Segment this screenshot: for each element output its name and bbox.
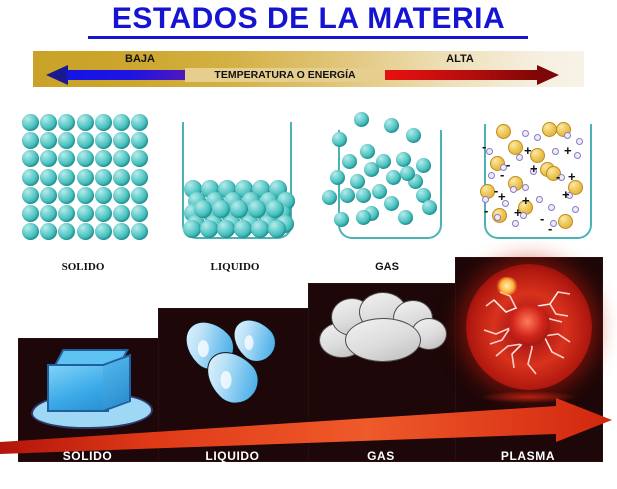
particle: [200, 220, 218, 238]
particle: [354, 112, 369, 127]
particle: [95, 114, 112, 131]
plasma-electron: [512, 220, 519, 227]
plasma-electron: [522, 184, 529, 191]
example-label-liquido: LIQUIDO: [158, 449, 307, 463]
particle: [322, 190, 337, 205]
temperature-axis-label: TEMPERATURA O ENERGÍA: [185, 68, 385, 82]
particle: [330, 170, 345, 185]
particle: [332, 132, 347, 147]
particle: [58, 187, 75, 204]
particle: [113, 150, 130, 167]
example-panel-solido: [18, 338, 159, 462]
particle: [131, 132, 148, 149]
particle: [77, 223, 94, 240]
particle: [266, 200, 284, 218]
charge-sign: -: [556, 170, 560, 183]
charge-sign: +: [522, 194, 530, 207]
particle: [113, 132, 130, 149]
low-temperature-label: BAJA: [80, 53, 200, 65]
charge-sign: +: [564, 144, 572, 157]
particle: [77, 132, 94, 149]
particle: [77, 169, 94, 186]
example-panel-gas: [308, 283, 456, 462]
particle-diagram-liquido: LIQUIDO: [160, 108, 310, 273]
particle: [131, 187, 148, 204]
particle: [95, 132, 112, 149]
particle: [58, 169, 75, 186]
particle: [131, 169, 148, 186]
particle: [396, 152, 411, 167]
particle-diagram-solido: SOLIDO: [8, 108, 158, 273]
charge-sign: +: [530, 162, 538, 175]
particle: [77, 187, 94, 204]
particle-diagram-gas: GAS: [312, 108, 462, 273]
particle: [113, 205, 130, 222]
particle: [340, 188, 355, 203]
particle: [22, 114, 39, 131]
particle: [40, 132, 57, 149]
plasma-ion: [496, 124, 511, 139]
particle: [131, 205, 148, 222]
particle: [40, 169, 57, 186]
particle: [77, 150, 94, 167]
particle: [194, 200, 212, 218]
particle: [251, 220, 269, 238]
particle-diagram-row: SOLIDO LIQUIDO GAS -++---++++-+-+-- PLAS…: [0, 108, 617, 273]
particle: [422, 200, 437, 215]
plasma-electron: [552, 148, 559, 155]
cloud-icon: [315, 292, 451, 364]
charge-sign: -: [484, 204, 488, 217]
plasma-electron: [564, 132, 571, 139]
particle: [58, 132, 75, 149]
particle: [356, 210, 371, 225]
charge-sign: +: [514, 206, 522, 219]
particle: [230, 200, 248, 218]
plasma-electron: [494, 214, 501, 221]
particle: [406, 128, 421, 143]
example-panel-plasma: [455, 257, 603, 462]
plasma-electron: [510, 186, 517, 193]
plasma-electron: [516, 154, 523, 161]
particle: [22, 187, 39, 204]
particle: [77, 205, 94, 222]
particle: [40, 114, 57, 131]
particle: [58, 114, 75, 131]
particle: [40, 150, 57, 167]
particle: [113, 223, 130, 240]
charge-sign: -: [500, 168, 504, 181]
charge-sign: -: [506, 158, 510, 171]
particle: [356, 188, 371, 203]
particle: [58, 150, 75, 167]
example-panel-liquido: [158, 308, 309, 462]
particle: [386, 170, 401, 185]
charge-sign: +: [568, 170, 576, 183]
page-title: ESTADOS DE LA MATERIA: [0, 2, 617, 36]
example-panel-row: SOLIDO LIQUIDO GAS: [0, 262, 617, 489]
particle: [22, 223, 39, 240]
particle: [22, 169, 39, 186]
low-temperature-arrow-head: [46, 65, 68, 85]
example-label-solido: SOLIDO: [18, 449, 157, 463]
particle: [22, 205, 39, 222]
charge-sign: -: [482, 140, 486, 153]
plasma-electron: [536, 196, 543, 203]
charge-sign: +: [498, 190, 506, 203]
charge-sign: +: [562, 188, 570, 201]
plasma-electron: [572, 206, 579, 213]
particle: [360, 144, 375, 159]
plasma-globe-icon: [466, 264, 592, 390]
particle: [384, 196, 399, 211]
ice-cube-icon: [31, 347, 149, 427]
example-label-gas: GAS: [308, 449, 454, 463]
plasma-ion: [558, 214, 573, 229]
particle: [384, 118, 399, 133]
title-underline: [88, 36, 528, 39]
plasma-electron: [548, 204, 555, 211]
charge-sign: -: [540, 212, 544, 225]
particle: [400, 166, 415, 181]
particle: [268, 220, 286, 238]
particle: [234, 220, 252, 238]
states-of-matter-infographic: ESTADOS DE LA MATERIA BAJA ALTA TEMPERAT…: [0, 0, 617, 489]
particle: [131, 114, 148, 131]
plasma-electron: [522, 130, 529, 137]
high-temperature-arrow-head: [537, 65, 559, 85]
example-label-plasma: PLASMA: [455, 449, 601, 463]
particle: [113, 114, 130, 131]
plasma-electron: [486, 148, 493, 155]
particle: [248, 200, 266, 218]
particle: [40, 187, 57, 204]
plasma-ion: [542, 122, 557, 137]
plasma-electron: [488, 172, 495, 179]
particle: [22, 150, 39, 167]
particle: [416, 158, 431, 173]
plasma-electron: [482, 196, 489, 203]
particle: [77, 114, 94, 131]
particle: [350, 174, 365, 189]
particle: [131, 150, 148, 167]
plasma-ion: [508, 140, 523, 155]
high-temperature-label: ALTA: [400, 53, 520, 65]
particle: [342, 154, 357, 169]
particle: [398, 210, 413, 225]
plasma-electron: [576, 138, 583, 145]
particle: [40, 223, 57, 240]
particle: [113, 169, 130, 186]
particle: [40, 205, 57, 222]
particle: [334, 212, 349, 227]
particle: [95, 150, 112, 167]
plasma-electron: [534, 134, 541, 141]
charge-sign: -: [548, 222, 552, 235]
particle: [95, 169, 112, 186]
particle: [95, 205, 112, 222]
particle: [95, 187, 112, 204]
particle: [212, 200, 230, 218]
charge-sign: +: [524, 144, 532, 157]
particle: [58, 223, 75, 240]
particle: [217, 220, 235, 238]
particle: [58, 205, 75, 222]
particle: [183, 220, 201, 238]
particle: [22, 132, 39, 149]
particle: [95, 223, 112, 240]
particle-diagram-plasma: -++---++++-+-+-- PLASMA: [464, 108, 610, 273]
particle: [372, 184, 387, 199]
particle: [131, 223, 148, 240]
particle: [364, 162, 379, 177]
particle: [113, 187, 130, 204]
plasma-electron: [574, 152, 581, 159]
